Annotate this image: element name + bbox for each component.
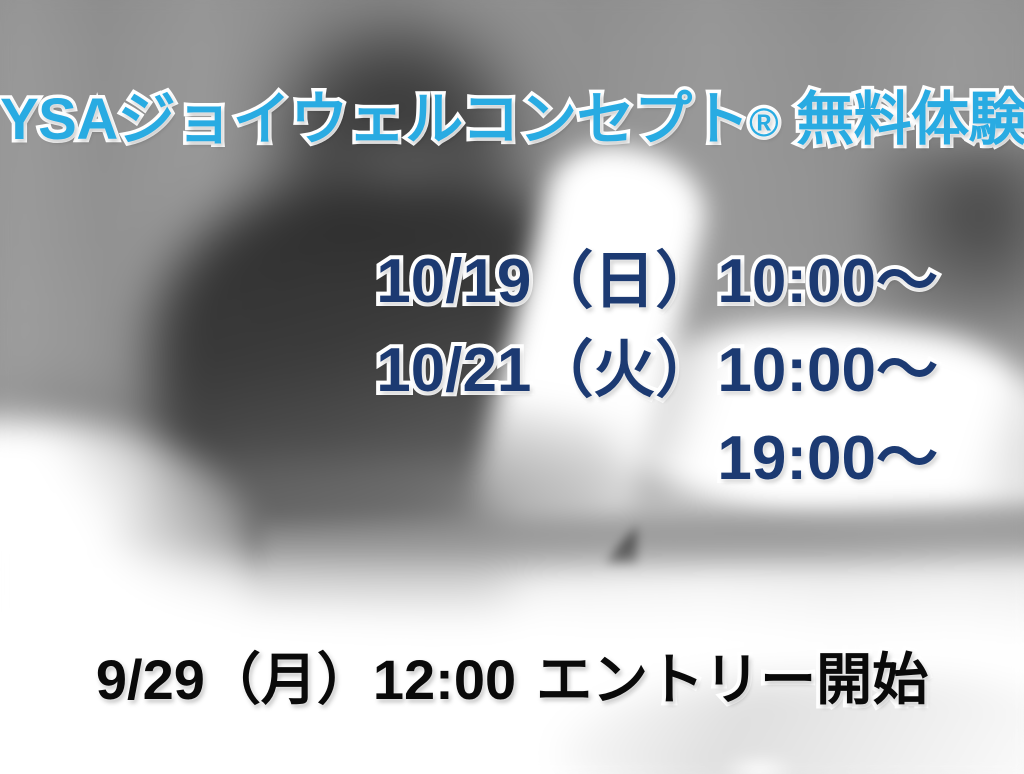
headline-trademark-icon: ®	[749, 101, 778, 145]
schedule-block: 10/19（日）10:00〜 10/21（火）10:00〜 19:00〜	[0, 238, 938, 504]
headline-event: 無料体験会	[796, 87, 1024, 152]
schedule-line: 10/19（日）10:00〜	[0, 238, 938, 327]
entry-date: 9/29	[96, 648, 205, 711]
schedule-line: 10/21（火）10:00〜	[0, 327, 938, 416]
entry-time: 12:00	[373, 648, 516, 711]
schedule-line: 19:00〜	[0, 415, 938, 504]
headline-brand: YSA	[0, 87, 118, 152]
promo-poster: YSAジョイウェルコンセプト®無料体験会 10/19（日）10:00〜 10/2…	[0, 0, 1024, 774]
headline-product: ジョイウェルコンセプト	[118, 87, 749, 152]
poster-text-layer: YSAジョイウェルコンセプト®無料体験会 10/19（日）10:00〜 10/2…	[0, 0, 1024, 774]
entry-action: エントリー開始	[536, 648, 928, 711]
entry-weekday: （月）	[205, 648, 373, 711]
entry-announcement: 9/29（月）12:00エントリー開始	[0, 651, 1024, 710]
poster-headline: YSAジョイウェルコンセプト®無料体験会	[0, 91, 1024, 149]
